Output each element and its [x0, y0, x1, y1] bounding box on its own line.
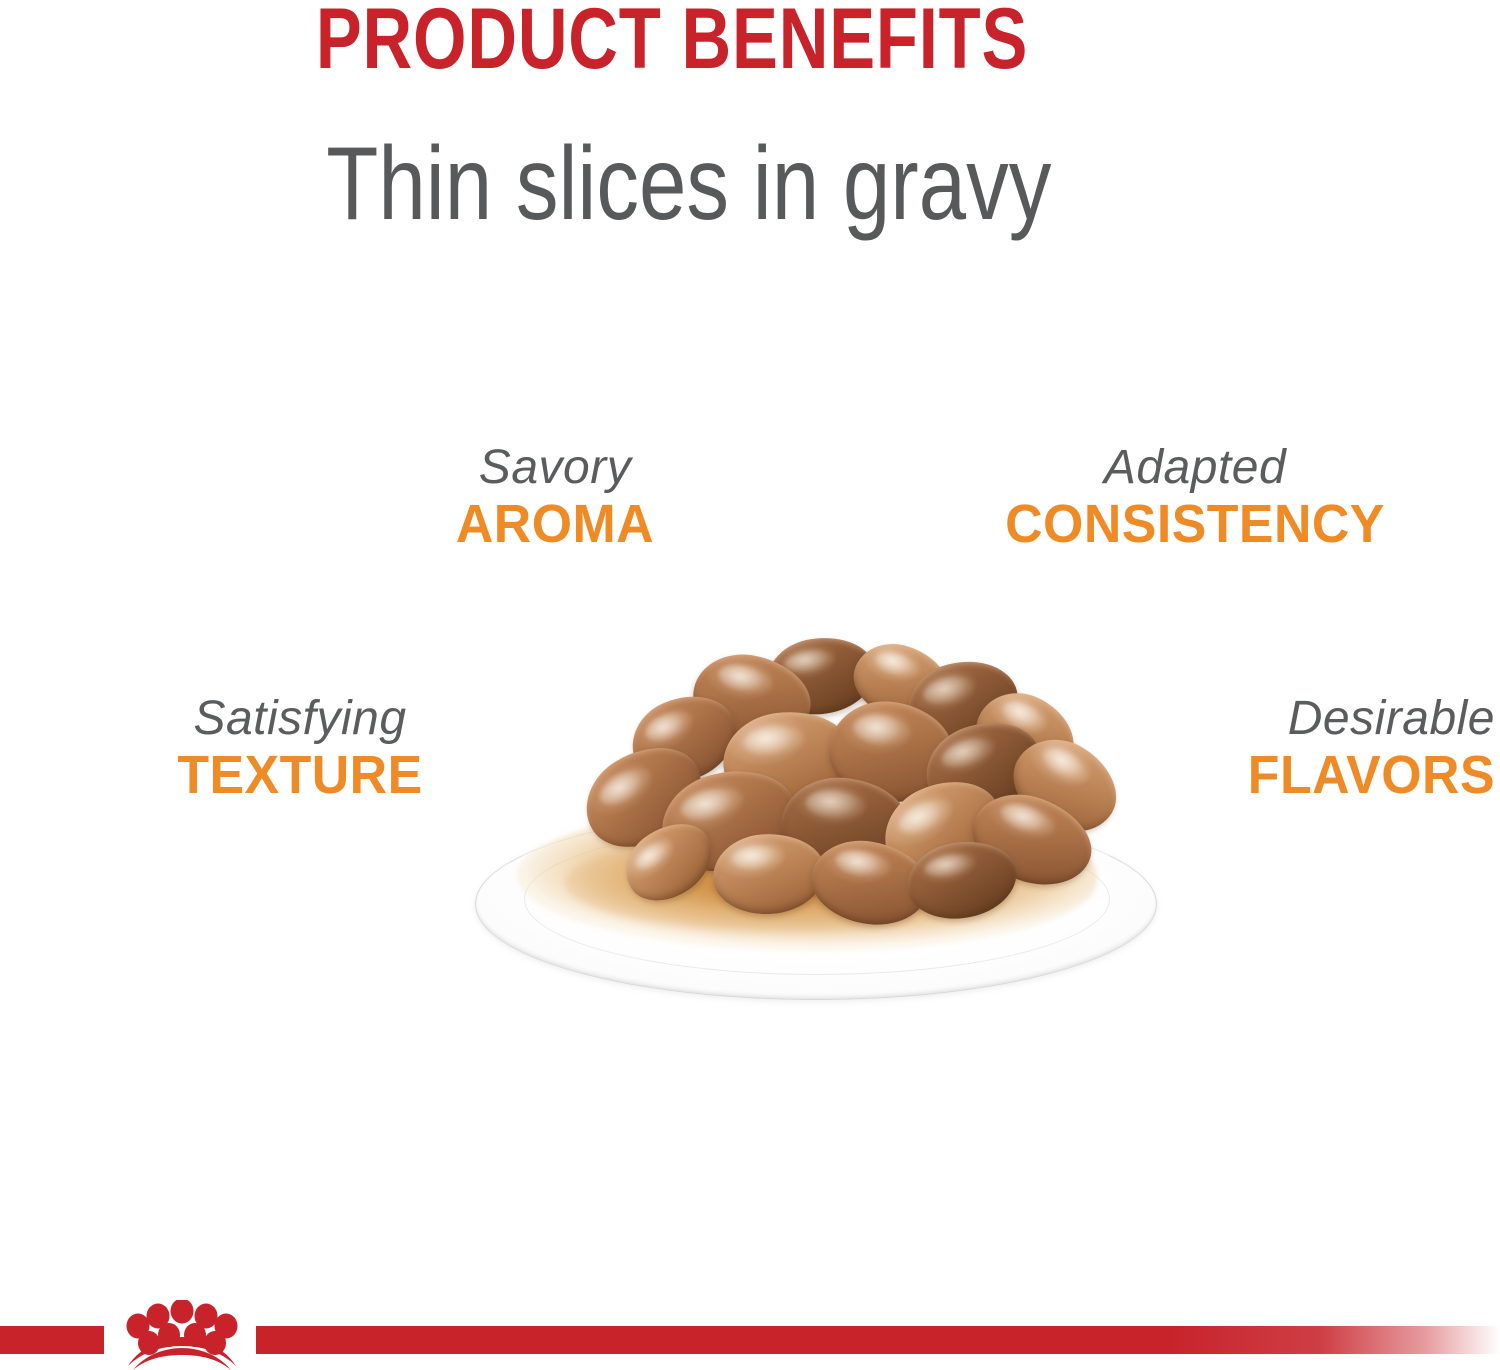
royal-canin-crown-icon: [108, 1300, 256, 1370]
page-subtitle: Thin slices in gravy: [0, 128, 1378, 240]
benefit-adjective: Satisfying: [100, 694, 500, 745]
footer: [0, 1300, 1500, 1370]
benefit-adjective: Desirable: [1185, 694, 1495, 745]
benefit-adjective: Savory: [355, 443, 755, 494]
page-title: PRODUCT BENEFITS: [0, 0, 1344, 84]
benefit-flavors: Desirable FLAVORS: [1185, 694, 1495, 805]
food-pile: [455, 620, 1175, 950]
product-photo: Thin slices of meat in gravy served on a…: [455, 620, 1175, 1020]
benefit-texture: Satisfying TEXTURE: [100, 694, 500, 805]
benefit-noun: CONSISTENCY: [955, 494, 1435, 554]
benefit-noun: TEXTURE: [108, 745, 492, 805]
benefit-noun: FLAVORS: [1197, 745, 1495, 805]
benefit-noun: AROMA: [363, 494, 747, 554]
benefit-consistency: Adapted CONSISTENCY: [945, 443, 1445, 554]
benefit-adjective: Adapted: [945, 443, 1445, 494]
benefit-aroma: Savory AROMA: [355, 443, 755, 554]
product-benefits-page: PRODUCT BENEFITS Thin slices in gravy Sa…: [0, 0, 1500, 1370]
